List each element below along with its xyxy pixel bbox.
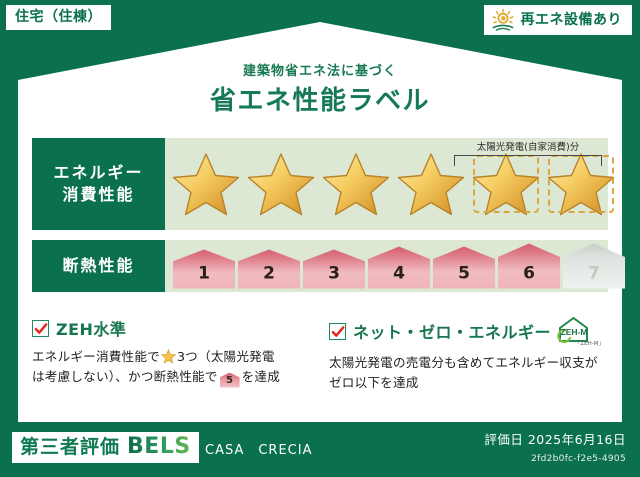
renewable-equipment-badge: 再エネ設備あり [484, 5, 633, 35]
building-type-tag: 住宅（住棟） [6, 5, 111, 30]
claim-zeh-text-stars: 3つ（太陽光発電 [177, 349, 275, 364]
energy-row-body: 太陽光発電(自家消費)分 [165, 138, 608, 230]
energy-label-root: 住宅（住棟） 再エネ設備あり 建築物省エネ法に基づ [0, 0, 640, 477]
insulation-badge-inactive: 7 [563, 244, 625, 289]
svg-text:ZEH-M: ZEH-M [561, 327, 588, 337]
evaluation-id: 2fd2b0fc-f2e5-4905 [531, 454, 626, 464]
claim-zeh-header: ZEH水準 [32, 316, 311, 340]
company-name: CASA CRECIA [205, 439, 313, 458]
insulation-badge-active: 5 [433, 247, 495, 289]
renewable-badge-label: 再エネ設備あり [521, 13, 623, 27]
claim-nze-header: ネット・ゼロ・エネルギー ZEH-M 「ZEH-M」 [329, 316, 608, 346]
sun-solar-icon [490, 8, 516, 32]
insulation-badge-active: 6 [498, 244, 560, 289]
claim-zeh-text-part2: は考慮しない）、かつ断熱性能で [32, 369, 218, 384]
zeh-m-logo-icon: ZEH-M 「ZEH-M」 [556, 316, 602, 346]
solar-portion-bracket: 太陽光発電(自家消費)分 [452, 140, 604, 170]
insulation-badge-active: 2 [238, 250, 300, 289]
evaluation-date: 評価日 2025年6月16日 [484, 429, 626, 448]
bels-certification-box: 第三者評価 BELS [12, 432, 199, 463]
claim-zeh-text-part3: を達成 [242, 369, 280, 384]
star-filled [244, 149, 318, 219]
energy-row-label-line1: エネルギー [53, 162, 143, 184]
star-filled [169, 149, 243, 219]
label-subtitle: 建築物省エネ法に基づく [0, 60, 640, 79]
insulation-row-body: 1234567 [165, 240, 608, 292]
insulation-row-label: 断熱性能 [32, 240, 165, 292]
zeh-m-caption: 「ZEH-M」 [575, 339, 604, 347]
insulation-badge-active: 1 [173, 250, 235, 289]
insulation-badge-active: 4 [368, 247, 430, 289]
star-filled [319, 149, 393, 219]
energy-row-label: エネルギー 消費性能 [32, 138, 165, 230]
claim-nze-body: 太陽光発電の売電分も含めてエネルギー収支がゼロ以下を達成 [329, 353, 608, 392]
insulation-row-label-text: 断熱性能 [62, 255, 134, 277]
insulation-grade-badges: 1234567 [173, 244, 625, 289]
inline-star-icon [161, 349, 176, 364]
bels-jp-label: 第三者評価 [20, 438, 120, 457]
claim-zeh-standard: ZEH水準 エネルギー消費性能で3つ（太陽光発電は考慮しない）、かつ断熱性能で5… [32, 316, 311, 408]
label-main-title: 省エネ性能ラベル [0, 80, 640, 117]
insulation-badge-active: 3 [303, 250, 365, 289]
claim-nze-title: ネット・ゼロ・エネルギー [353, 319, 551, 343]
solar-bracket-line [454, 155, 602, 166]
claim-zeh-body: エネルギー消費性能で3つ（太陽光発電は考慮しない）、かつ断熱性能で5を達成 [32, 347, 311, 388]
energy-row-label-line2: 消費性能 [62, 184, 134, 206]
claim-zeh-text-part1: エネルギー消費性能で [32, 349, 160, 364]
solar-bracket-label: 太陽光発電(自家消費)分 [452, 139, 604, 153]
claim-net-zero-energy: ネット・ゼロ・エネルギー ZEH-M 「ZEH-M」 太陽光発電の売電分も含めて… [329, 316, 608, 408]
claims-section: ZEH水準 エネルギー消費性能で3つ（太陽光発電は考慮しない）、かつ断熱性能で5… [32, 316, 608, 408]
claim-zeh-title: ZEH水準 [56, 316, 126, 340]
energy-consumption-row: エネルギー 消費性能 太陽光発電(自家消費)分 [32, 138, 608, 230]
insulation-performance-row: 断熱性能 1234567 [32, 240, 608, 292]
checkbox-checked-icon [32, 320, 49, 337]
inline-insulation-badge: 5 [220, 373, 240, 388]
bels-en-label: BELS [127, 436, 191, 458]
checkbox-checked-icon [329, 323, 346, 340]
